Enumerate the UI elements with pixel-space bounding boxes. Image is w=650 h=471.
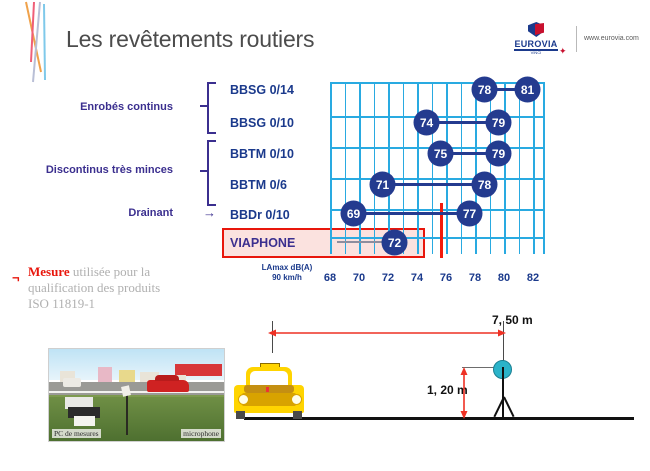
axis-tick-82: 82 [522,272,544,284]
car-grille [242,393,296,406]
marker-bbsg-0-10-min: 74 [415,111,438,134]
axis-tick-72: 72 [377,272,399,284]
row-label-bbtm-0-6: BBTM 0/6 [230,178,287,192]
car-marker [266,387,269,392]
axis-tick-74: 74 [406,272,428,284]
car-headlight-right [291,394,302,405]
marker-bbsg-0-10-max: 79 [487,111,510,134]
photo-building [98,367,112,382]
marker-viaphone-max: 72 [383,231,406,254]
axis-tick-70: 70 [348,272,370,284]
photo-microphone-head-icon [121,385,131,396]
diagram-car-icon [230,363,308,419]
note-line3: ISO 11819-1 [28,296,95,311]
group-label-drainant: Drainant [78,207,173,219]
marker-bbtm-0-10-max: 79 [487,142,510,165]
group-label-discontinus: Discontinus très minces [28,164,173,176]
axis-tick-78: 78 [464,272,486,284]
brace-tick-enrobes-continus [200,105,207,107]
photo-label-pc: PC de mesures [52,429,101,438]
diagram-horizontal-arrow-icon [268,327,508,339]
diagram-mic-stand [502,367,504,417]
marker-bbtm-0-6-max: 78 [473,173,496,196]
car-wheel-right [293,411,302,419]
connector-bbdr-0-10 [356,212,459,215]
diagram-vertical-arrow-icon [458,367,470,419]
brace-discontinus [207,140,216,206]
marker-bbsg-0-14-min: 78 [473,78,496,101]
measurement-diagram: 7, 50 m 1, 20 m [222,305,642,430]
car-windscreen [250,371,288,386]
photo-label-microphone: microphone [181,429,221,438]
marker-bbsg-0-14-max: 81 [516,78,539,101]
measurement-photo: PC de mesures microphone [48,348,225,442]
marker-bbdr-0-10-max: 77 [458,202,481,225]
photo-microphone-pole [126,390,128,434]
photo-building [119,370,135,382]
car-hood [244,385,294,393]
axis-tick-68: 68 [319,272,341,284]
photo-road-marking [49,391,224,393]
brace-tick-discontinus [200,170,207,172]
note-text: Mesure utilisée pour la qualification de… [28,264,218,312]
diagram-mic-leg [503,397,514,417]
group-label-enrobes-continus: Enrobés continus [48,101,173,113]
row-label-bbsg-0-10: BBSG 0/10 [230,116,294,130]
slide-canvas: Les revêtements routiers EUROVIA VINCI ✦… [0,0,650,471]
brace-enrobes-continus [207,82,216,134]
note-rest: utilisée pour la [70,264,151,279]
marker-bbdr-0-10-min: 69 [342,202,365,225]
arrow-drainant-icon: → [203,205,216,220]
marker-bbtm-0-10-min: 75 [429,142,452,165]
note-bullet-icon: ¬ [12,270,20,285]
photo-separator [48,441,223,442]
row-label-bbsg-0-14: BBSG 0/14 [230,83,294,97]
connector-bbtm-0-6 [385,183,487,186]
car-headlight-left [238,394,249,405]
car-wheel-left [236,411,245,419]
note-highlight: Mesure [28,264,70,279]
axis-tick-76: 76 [435,272,457,284]
axis-tick-80: 80 [493,272,515,284]
noise-level-chart: Enrobés continus Discontinus très minces… [0,0,650,300]
photo-pc-paper [74,416,95,426]
diagram-horizontal-label: 7, 50 m [492,313,533,327]
photo-red-car [147,380,189,392]
row-label-bbtm-0-10: BBTM 0/10 [230,147,294,161]
photo-white-vehicle [63,378,81,386]
marker-bbtm-0-6-min: 71 [371,173,394,196]
row-label-viaphone: VIAPHONE [230,236,295,250]
note-line2: qualification des produits [28,280,160,295]
chart-gridlines [330,82,544,254]
row-label-bbdr-0-10: BBDr 0/10 [230,208,290,222]
